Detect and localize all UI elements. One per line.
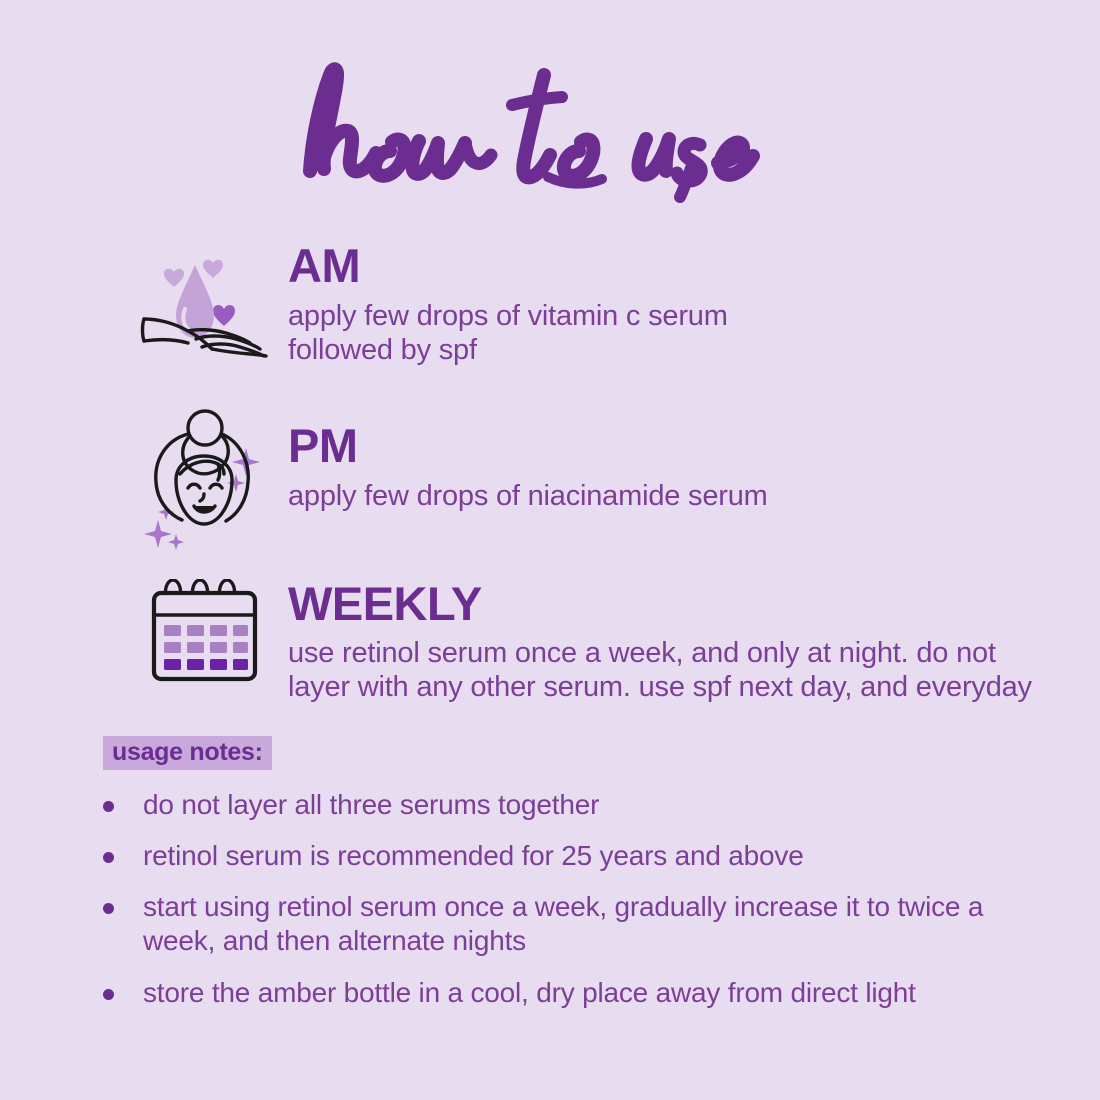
step-am-title: AM xyxy=(288,242,1035,289)
step-pm-description: apply few drops of niacinamide serum xyxy=(288,479,1035,513)
list-item: store the amber bottle in a cool, dry pl… xyxy=(98,976,1058,1010)
bullet-icon xyxy=(103,801,114,812)
heart-small-right-icon xyxy=(213,305,235,326)
step-pm-title: PM xyxy=(288,422,1035,469)
step-weekly-icon-wrap xyxy=(135,578,275,688)
list-item-text: store the amber bottle in a cool, dry pl… xyxy=(143,977,916,1008)
list-item-text: retinol serum is recommended for 25 year… xyxy=(143,840,804,871)
page-title-script-text: how to use xyxy=(280,53,820,203)
infographic-page: how to use xyxy=(0,0,1100,1100)
step-row-pm: PM apply few drops of niacinamide serum xyxy=(135,408,1035,553)
hand-with-droplet-icon xyxy=(140,235,270,360)
list-item-text: do not layer all three serums together xyxy=(143,789,599,820)
step-weekly-description-line-2: layer with any other serum. use spf next… xyxy=(288,670,1055,704)
step-am-description: apply few drops of vitamin c serum follo… xyxy=(288,299,1035,367)
step-pm-icon-wrap xyxy=(135,408,275,553)
step-weekly-description-line-1: use retinol serum once a week, and only … xyxy=(288,636,1055,670)
face-outline-icon xyxy=(156,411,248,524)
usage-notes-heading-wrap: usage notes: xyxy=(103,736,272,770)
step-weekly-body: WEEKLY use retinol serum once a week, an… xyxy=(275,578,1055,704)
step-row-am: AM apply few drops of vitamin c serum fo… xyxy=(135,232,1035,367)
usage-notes-heading: usage notes: xyxy=(103,736,272,770)
step-am-description-line-1: apply few drops of vitamin c serum xyxy=(288,299,1035,333)
heart-small-top-icon xyxy=(203,259,223,277)
step-weekly-description: use retinol serum once a week, and only … xyxy=(288,636,1055,704)
step-pm-body: PM apply few drops of niacinamide serum xyxy=(275,408,1035,513)
step-row-weekly: WEEKLY use retinol serum once a week, an… xyxy=(135,578,1055,704)
list-item: do not layer all three serums together xyxy=(98,788,1058,822)
page-title: how to use xyxy=(0,48,1100,208)
bullet-icon xyxy=(103,989,114,1000)
usage-notes-list: do not layer all three serums together r… xyxy=(98,788,1058,1027)
list-item: start using retinol serum once a week, g… xyxy=(98,890,1058,958)
calendar-icon xyxy=(145,579,265,687)
list-item: retinol serum is recommended for 25 year… xyxy=(98,839,1058,873)
heart-small-left-icon xyxy=(164,268,184,286)
step-am-description-line-2: followed by spf xyxy=(288,333,1035,367)
step-weekly-title: WEEKLY xyxy=(288,580,1055,627)
smiling-face-with-hair-bun-icon xyxy=(140,408,270,553)
bullet-icon xyxy=(103,852,114,863)
step-am-body: AM apply few drops of vitamin c serum fo… xyxy=(275,232,1035,367)
step-am-icon-wrap xyxy=(135,232,275,362)
step-pm-description-line-1: apply few drops of niacinamide serum xyxy=(288,479,1035,513)
list-item-text: start using retinol serum once a week, g… xyxy=(143,891,983,956)
bullet-icon xyxy=(103,903,114,914)
